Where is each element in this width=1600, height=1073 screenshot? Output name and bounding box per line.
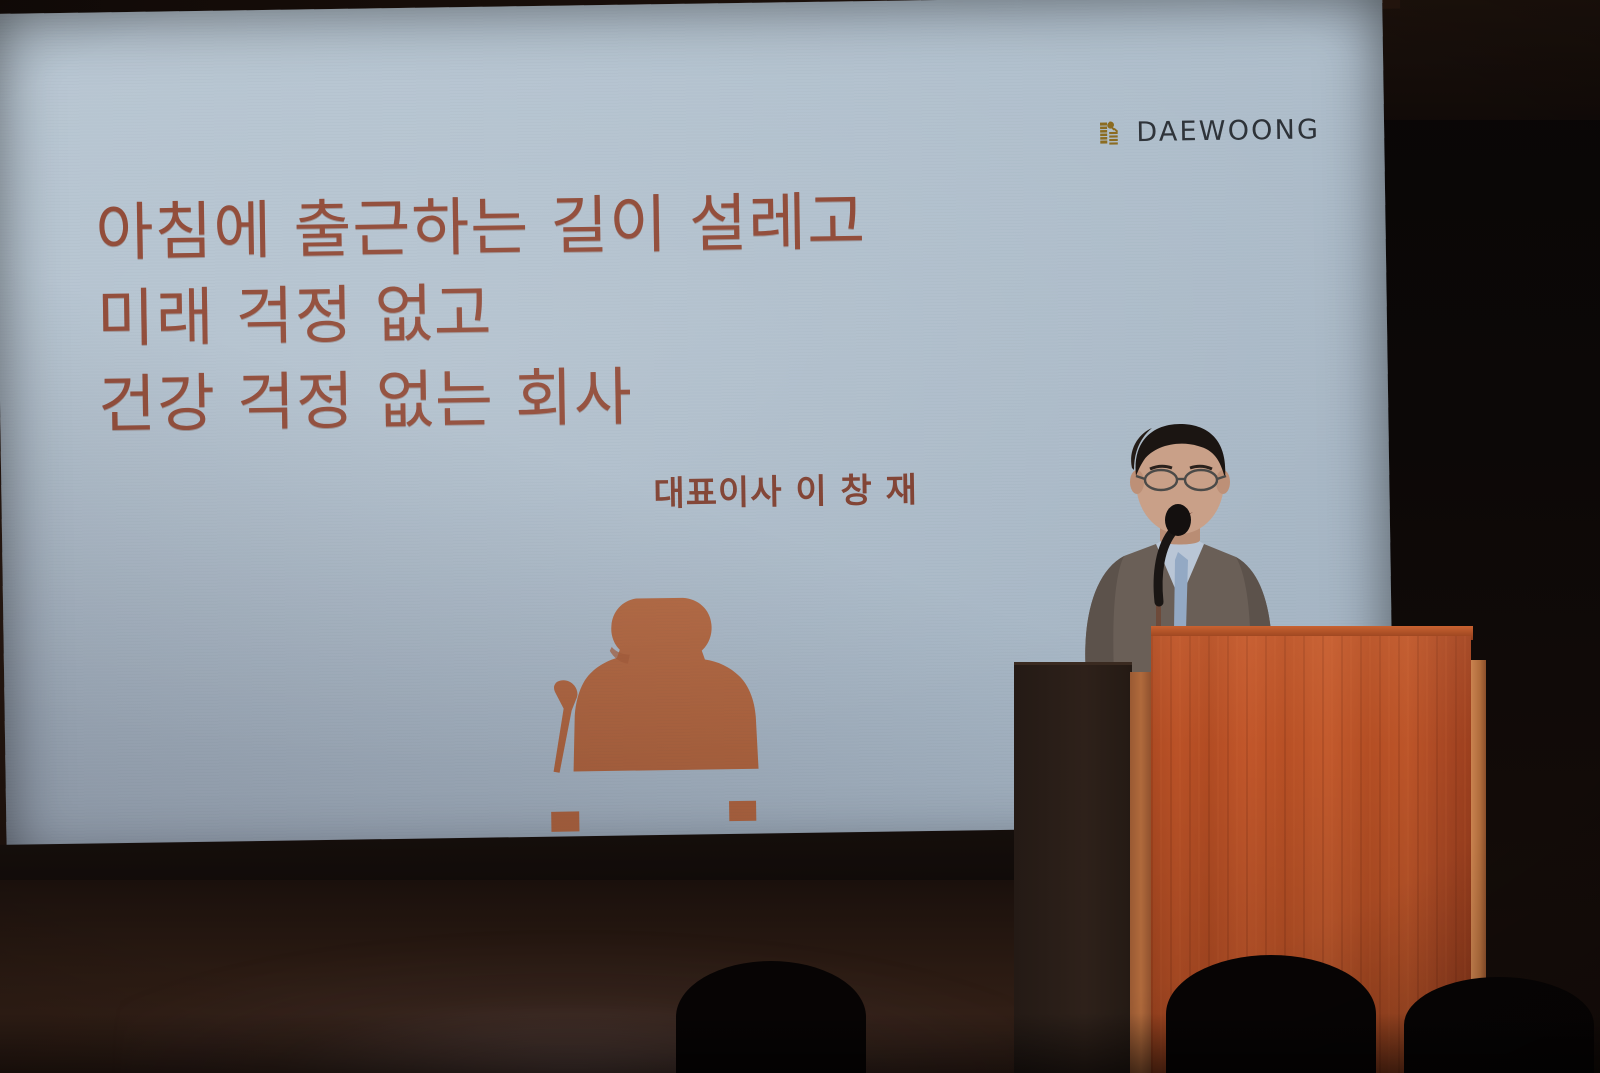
audience-head-silhouette xyxy=(676,961,866,1073)
lectern-left-edge xyxy=(1130,672,1152,1073)
headline-line-2: 미래 걱정 없고 xyxy=(96,262,1097,363)
microphone-head xyxy=(1165,504,1191,536)
audience-head-silhouette xyxy=(1404,977,1594,1073)
necktie xyxy=(1174,552,1188,630)
slide-headline: 아침에 출근하는 길이 설레고 미래 걱정 없고 건강 걱정 없는 회사 xyxy=(95,176,1099,449)
stage-floor-light-reflection xyxy=(120,930,1020,1073)
headline-line-1: 아침에 출근하는 길이 설레고 xyxy=(95,176,1096,277)
lectern-side-panel xyxy=(1014,665,1132,1073)
headline-line-3: 건강 걱정 없는 회사 xyxy=(97,348,1098,449)
audience-head-silhouette xyxy=(1166,955,1376,1073)
slide-signature: 대표이사 이 창 재 xyxy=(653,462,918,515)
presentation-photo: DAEWOONG 아침에 출근하는 길이 설레고 미래 걱정 없고 건강 걱정 … xyxy=(0,0,1600,1073)
daewoong-wordmark: DAEWOONG xyxy=(1136,114,1320,148)
daewoong-bear-emblem xyxy=(1094,118,1124,148)
speaker-shadow-on-screen xyxy=(508,582,792,856)
slide-brand-lockup: DAEWOONG xyxy=(1094,114,1320,148)
